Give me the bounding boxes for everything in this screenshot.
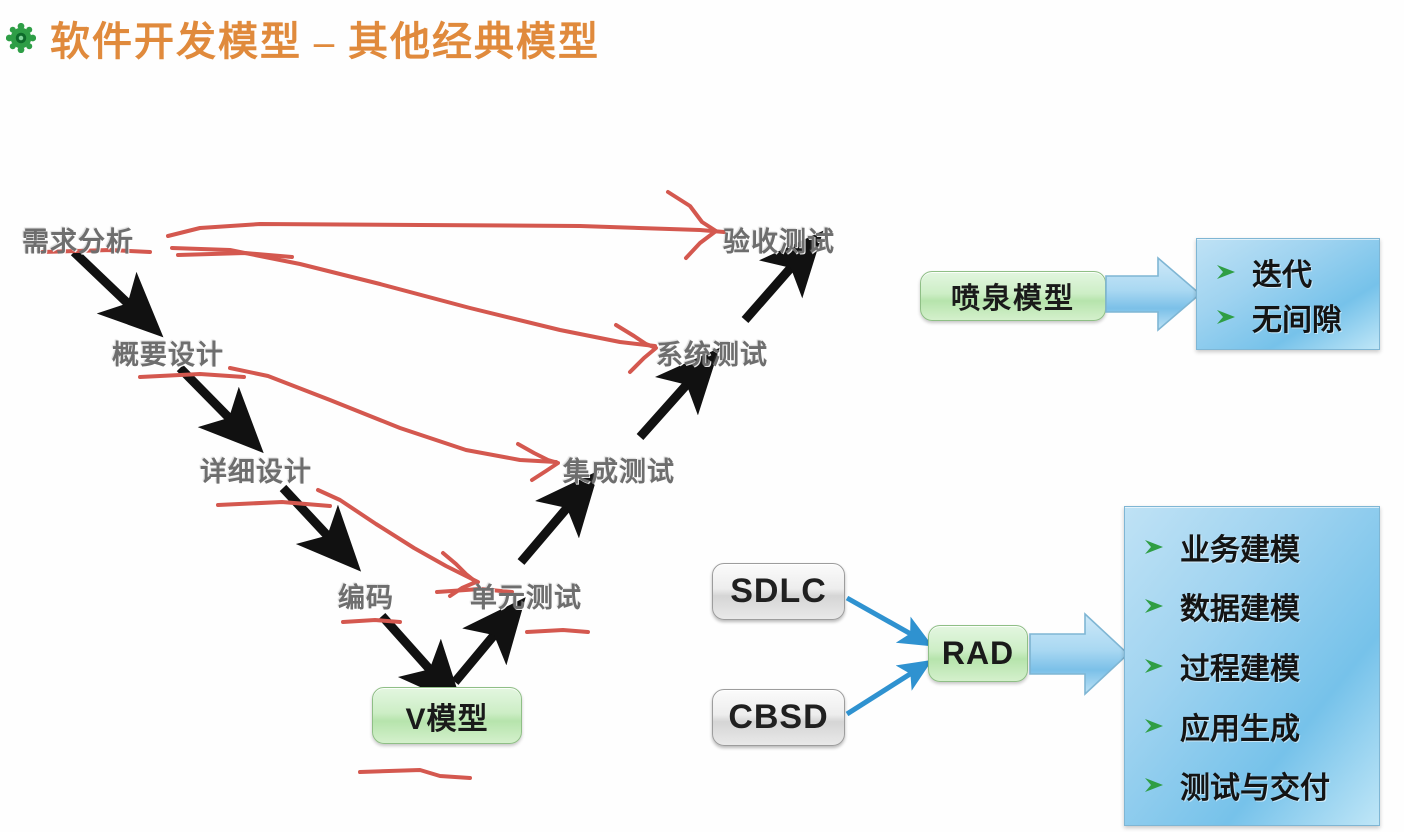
arrow-integration-to-system — [640, 372, 698, 437]
connector-cbsd-to-rad — [847, 669, 918, 714]
list-item: 测试与交付 — [1143, 763, 1379, 807]
underline-detail — [218, 502, 330, 506]
rad-block-arrow — [1030, 614, 1128, 694]
chevron-right-icon — [1143, 597, 1167, 615]
v-stage-label-coding: 编码 — [338, 576, 394, 615]
fountain-model-box[interactable]: 喷泉模型 — [920, 271, 1106, 321]
v-model-box[interactable]: V模型 — [372, 687, 522, 744]
underline-vbox — [360, 770, 470, 778]
rad-model-list: 业务建模 数据建模 过程建模 应用生成 — [1125, 507, 1379, 825]
arrow-outline-to-detail — [180, 368, 241, 430]
chevron-right-icon — [1143, 776, 1167, 794]
v-stage-label-acceptance-test: 验收测试 — [723, 220, 835, 259]
list-item: 数据建模 — [1143, 584, 1379, 628]
v-stage-label-outline-design: 概要设计 — [112, 333, 224, 372]
list-item: 过程建模 — [1143, 644, 1379, 688]
curve-detail-to-integration — [230, 368, 556, 462]
fountain-block-arrow — [1106, 258, 1200, 330]
rad-item-label: 测试与交付 — [1180, 763, 1330, 807]
v-stage-label-system-test: 系统测试 — [656, 333, 768, 372]
rad-item-label: 数据建模 — [1180, 584, 1300, 628]
slide-title-row: 软件开发模型 – 其他经典模型 — [0, 8, 900, 68]
arrow-detail-to-code — [283, 488, 339, 548]
arrowhead-integration — [518, 444, 558, 480]
cbsd-box[interactable]: CBSD — [712, 689, 845, 746]
fountain-model-box-label: 喷泉模型 — [951, 275, 1075, 317]
list-item: 无间隙 — [1215, 295, 1379, 339]
rad-item-label: 过程建模 — [1180, 644, 1300, 688]
curve-outline-to-system — [172, 248, 655, 346]
fountain-model-result-box: 迭代 无间隙 — [1196, 238, 1380, 350]
arrow-code-to-vbox — [382, 616, 441, 682]
list-item: 迭代 — [1215, 250, 1379, 294]
arrowhead-system — [616, 325, 656, 372]
flower-bullet-icon — [6, 23, 36, 53]
arrow-vbox-to-unit — [455, 622, 505, 682]
chevron-right-icon — [1143, 657, 1167, 675]
chevron-right-icon — [1215, 263, 1239, 281]
underline-code — [343, 620, 400, 622]
slide-canvas: 软件开发模型 – 其他经典模型 — [0, 0, 1404, 832]
v-stage-label-unit-test: 单元测试 — [470, 576, 582, 615]
fountain-item-label: 迭代 — [1252, 250, 1312, 294]
arrow-system-to-acceptance — [745, 255, 802, 320]
rad-box[interactable]: RAD — [928, 625, 1028, 682]
underline-unit-2 — [527, 630, 588, 632]
list-item: 业务建模 — [1143, 525, 1379, 569]
arrow-req-to-outline — [74, 252, 140, 315]
fountain-item-label: 无间隙 — [1252, 295, 1342, 339]
chevron-right-icon — [1215, 308, 1239, 326]
arrowhead-acceptance — [668, 192, 716, 258]
sdlc-box[interactable]: SDLC — [712, 563, 845, 620]
underline-req-2 — [178, 253, 292, 257]
connector-sdlc-to-rad — [847, 598, 918, 638]
v-stage-label-integration-test: 集成测试 — [563, 450, 675, 489]
v-model-box-label: V模型 — [405, 694, 488, 738]
cbsd-box-label: CBSD — [728, 698, 828, 737]
underline-outline — [140, 374, 244, 377]
curve-code-to-unit — [318, 490, 478, 582]
arrow-unit-to-integration — [521, 495, 578, 562]
chevron-right-icon — [1143, 717, 1167, 735]
fountain-model-list: 迭代 无间隙 — [1197, 239, 1379, 349]
list-item: 应用生成 — [1143, 704, 1379, 748]
rad-result-box: 业务建模 数据建模 过程建模 应用生成 — [1124, 506, 1380, 826]
curve-req-to-acceptance — [168, 224, 724, 236]
v-stage-label-requirement: 需求分析 — [22, 220, 134, 259]
rad-item-label: 业务建模 — [1180, 525, 1300, 569]
rad-box-label: RAD — [942, 635, 1014, 672]
page-title: 软件开发模型 – 其他经典模型 — [50, 9, 600, 67]
rad-item-label: 应用生成 — [1180, 704, 1300, 748]
v-stage-label-detail-design: 详细设计 — [200, 450, 312, 489]
sdlc-box-label: SDLC — [730, 572, 827, 611]
chevron-right-icon — [1143, 538, 1167, 556]
